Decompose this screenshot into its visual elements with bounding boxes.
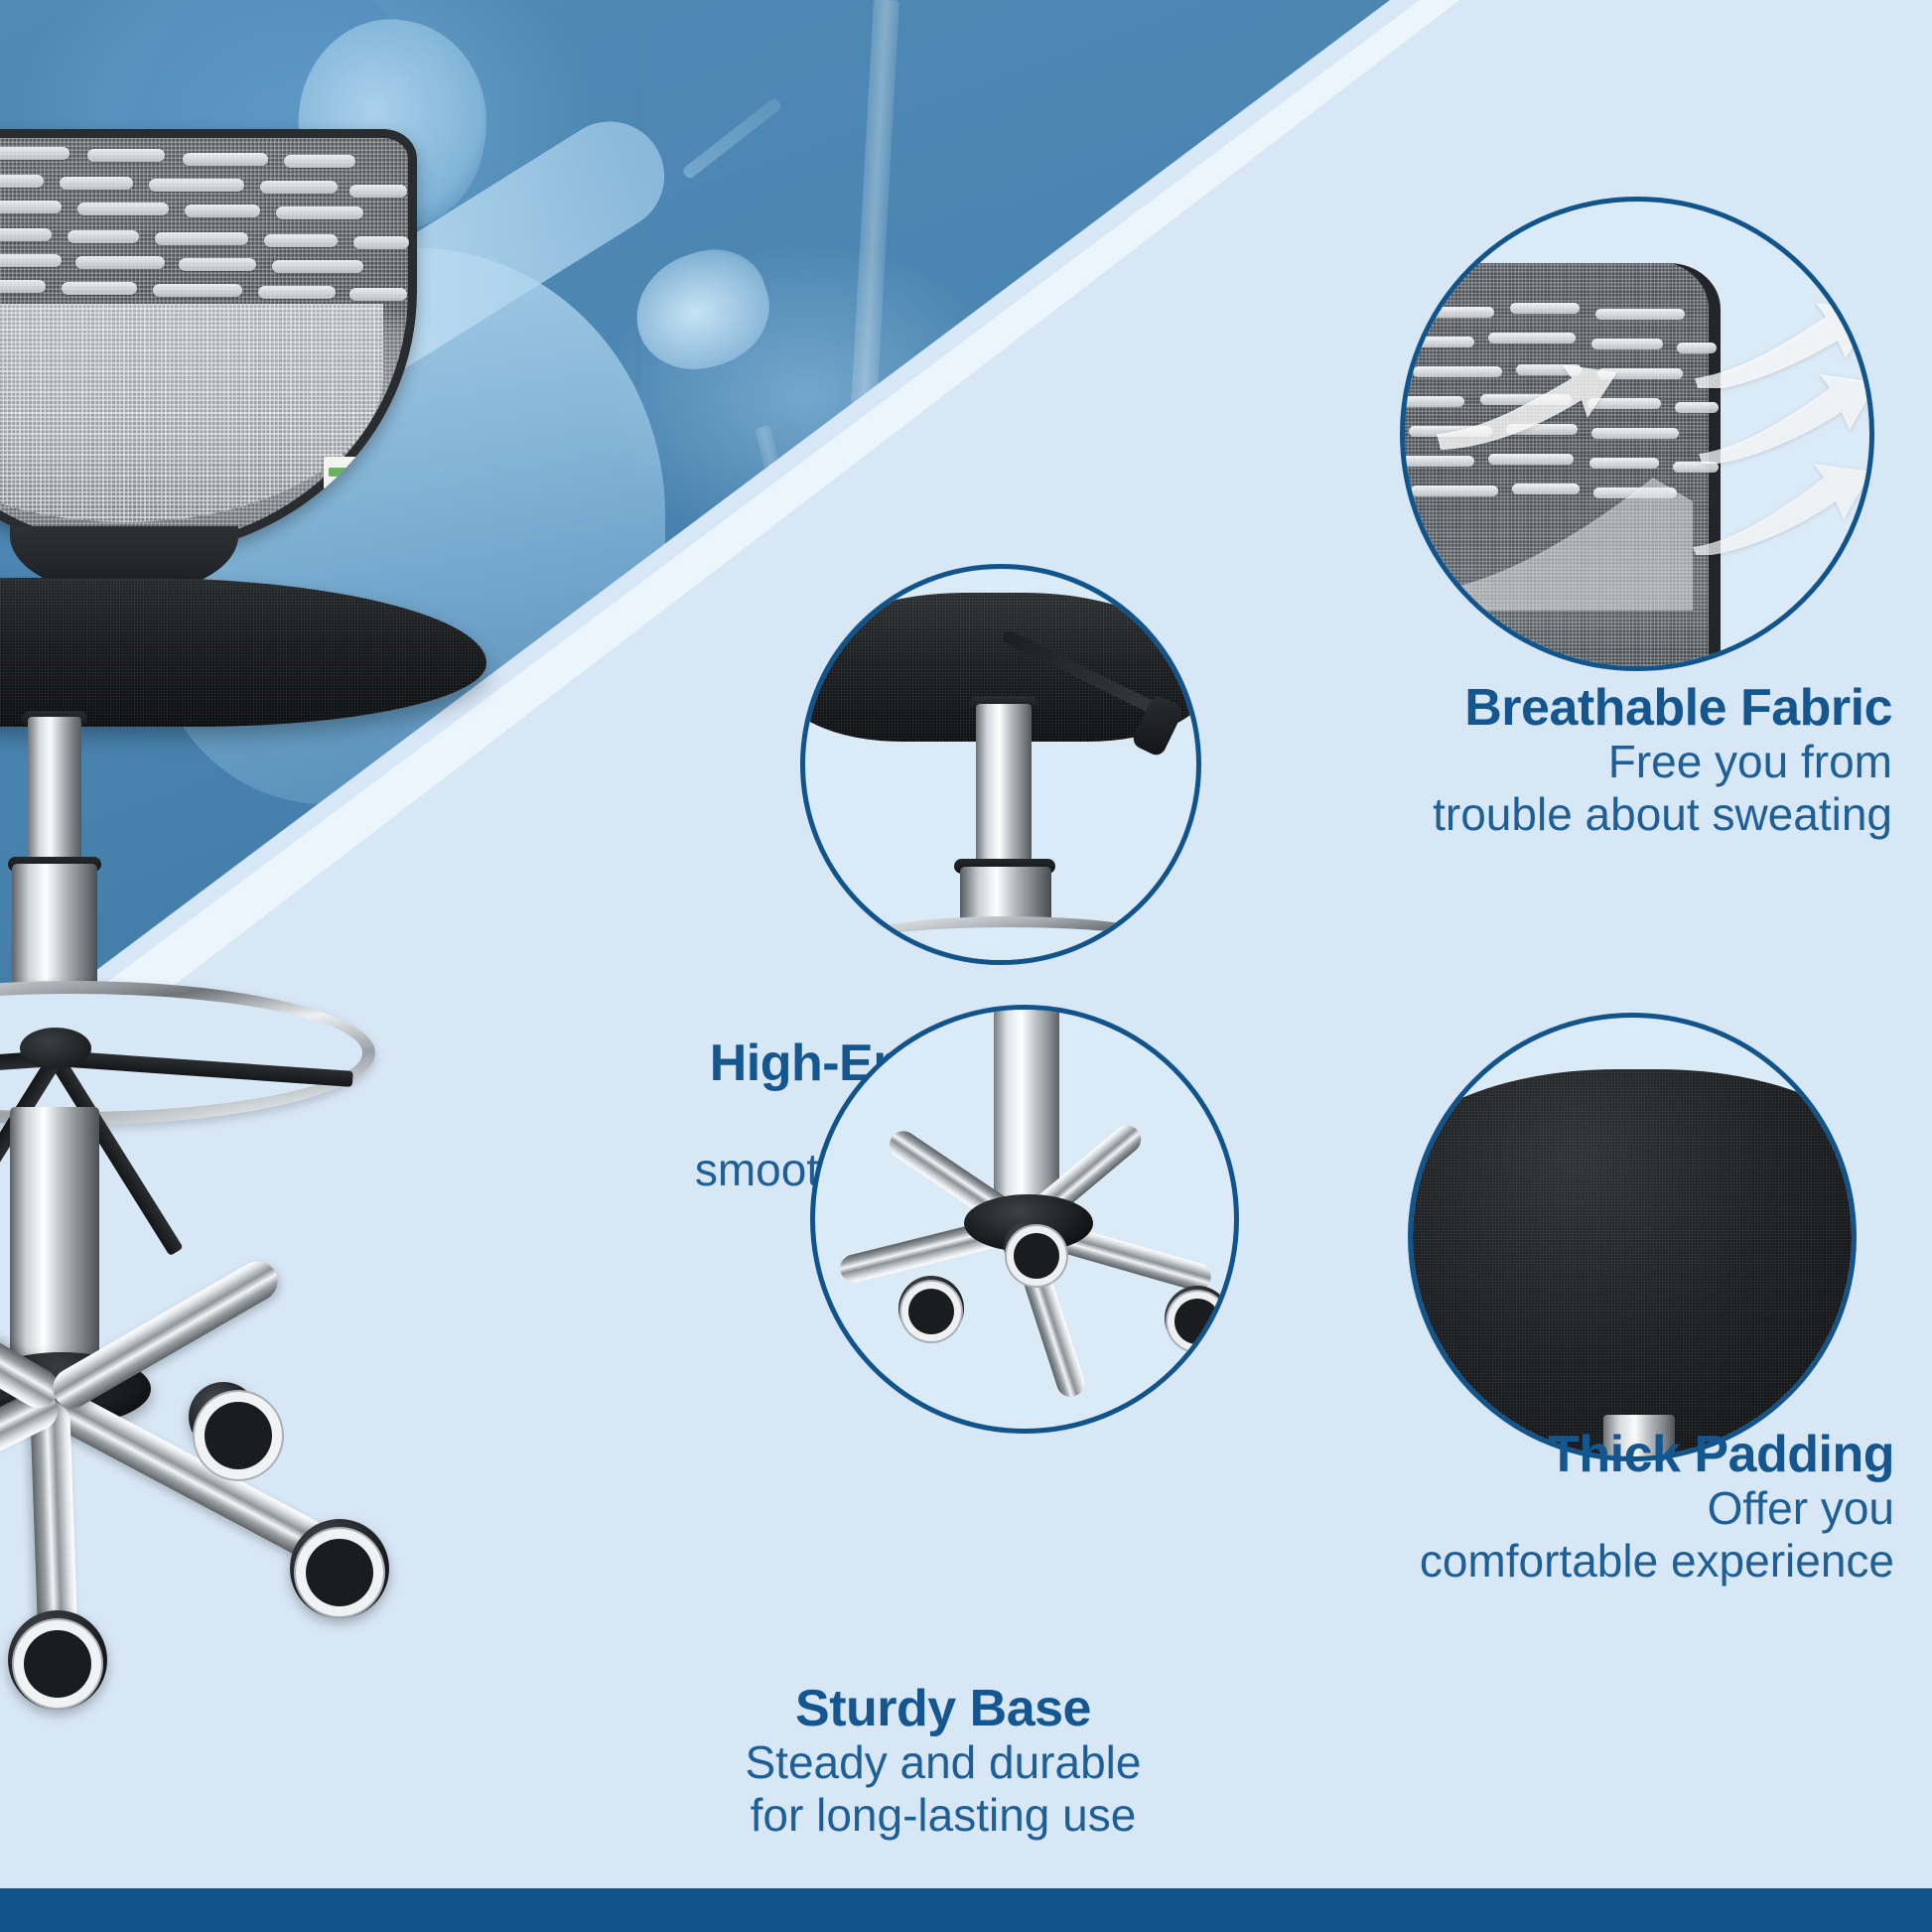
feature-circle-gas-lift [800,564,1201,965]
center-column [10,1107,99,1380]
person-hand [621,235,784,385]
bottom-accent-bar [0,1888,1932,1932]
caster-wheel [8,1610,107,1710]
brand-label-tag [324,457,359,490]
feature-text-sturdy-base: Sturdy Base Steady and durable for long-… [556,1682,1330,1841]
feature-text-thick-padding: Thick Padding Offer you comfortable expe… [901,1428,1894,1587]
caster-wheel-icon [1004,1220,1055,1272]
feature-circle-sturdy-base [810,1005,1239,1434]
mesh-slot-pattern [0,145,403,329]
marker-pen-icon [681,96,783,180]
feature-subtitle-line1: Steady and durable [556,1736,1330,1788]
feature-subtitle-line2: comfortable experience [901,1535,1894,1587]
feature-subtitle-line2: for long-lasting use [556,1789,1330,1841]
main-product-image [0,129,596,1876]
gas-cylinder-upper [28,717,81,876]
footrest-hub [20,1028,91,1069]
caster-wheel [189,1382,258,1451]
caster-wheel [290,1519,389,1618]
chair-seat [0,578,486,727]
product-infographic: Breathable Fabric Free you from trouble … [0,0,1932,1932]
feature-circle-breathable-fabric [1400,197,1874,671]
feature-circle-thick-padding [1408,1013,1857,1461]
caster-wheel-icon [898,1276,964,1341]
feature-title: Sturdy Base [556,1682,1330,1736]
gas-cylinder-mid [12,864,97,998]
caster-wheel-icon [1165,1286,1230,1351]
airflow-arrow-icon [1691,456,1874,555]
padded-seat-icon [1408,1069,1857,1461]
feature-title: Thick Padding [901,1428,1894,1482]
airflow-arrow-icon [1445,462,1693,611]
feature-subtitle-line1: Offer you [901,1482,1894,1534]
airflow-arrow-icon [1433,346,1641,456]
chair-mesh-back [0,129,417,556]
footrest-ring-icon [835,916,1182,965]
airflow-arrow-icon [1695,368,1874,464]
gas-cylinder-icon [976,704,1032,878]
center-column-icon [994,1005,1059,1208]
